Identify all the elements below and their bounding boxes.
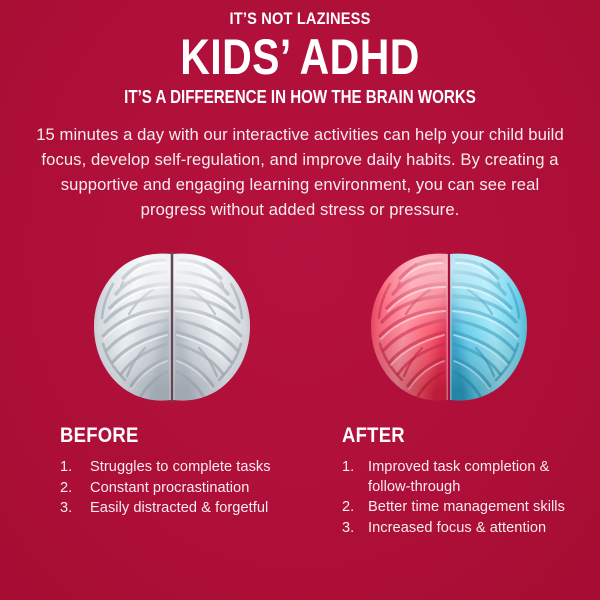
list-item: 2. Better time management skills <box>342 498 577 518</box>
list-item-text: Better time management skills <box>368 499 565 515</box>
after-column: AFTER 1. Improved task completion & foll… <box>342 424 577 539</box>
list-item-number: 3. <box>60 499 82 519</box>
list-item-text: Improved task completion & follow-throug… <box>368 459 549 495</box>
intro-paragraph: 15 minutes a day with our interactive ac… <box>30 122 570 222</box>
list-item-number: 1. <box>60 458 82 478</box>
gray-brain-icon <box>83 248 261 406</box>
eyebrow-text: IT’S NOT LAZINESS <box>42 9 558 29</box>
list-item-number: 3. <box>342 519 362 539</box>
subtitle-text: IT’S A DIFFERENCE IN HOW THE BRAIN WORKS <box>48 86 552 108</box>
list-item: 1. Struggles to complete tasks <box>60 458 295 478</box>
list-item: 2. Constant procrastination <box>60 479 295 499</box>
comparison-columns: BEFORE 1. Struggles to complete tasks 2.… <box>0 424 600 600</box>
brain-illustrations <box>0 248 600 410</box>
infographic-poster: IT’S NOT LAZINESS KIDS’ ADHD IT’S A DIFF… <box>0 0 600 600</box>
before-column: BEFORE 1. Struggles to complete tasks 2.… <box>60 424 295 520</box>
list-item: 1. Improved task completion & follow-thr… <box>342 458 577 497</box>
list-item-number: 1. <box>342 458 362 478</box>
list-item-number: 2. <box>60 479 82 499</box>
page-title: KIDS’ ADHD <box>54 31 546 83</box>
red-blue-brain-icon <box>360 248 538 406</box>
list-item-text: Constant procrastination <box>90 480 249 496</box>
list-item: 3. Increased focus & attention <box>342 519 577 539</box>
list-item-text: Easily distracted & forgetful <box>90 500 268 516</box>
after-list: 1. Improved task completion & follow-thr… <box>342 458 577 538</box>
list-item-text: Increased focus & attention <box>368 520 546 536</box>
before-list: 1. Struggles to complete tasks 2. Consta… <box>60 458 295 519</box>
after-heading: AFTER <box>342 424 549 448</box>
before-heading: BEFORE <box>60 424 267 448</box>
list-item-text: Struggles to complete tasks <box>90 459 271 475</box>
list-item: 3. Easily distracted & forgetful <box>60 499 295 519</box>
poster-header: IT’S NOT LAZINESS KIDS’ ADHD IT’S A DIFF… <box>0 0 600 108</box>
list-item-number: 2. <box>342 498 362 518</box>
